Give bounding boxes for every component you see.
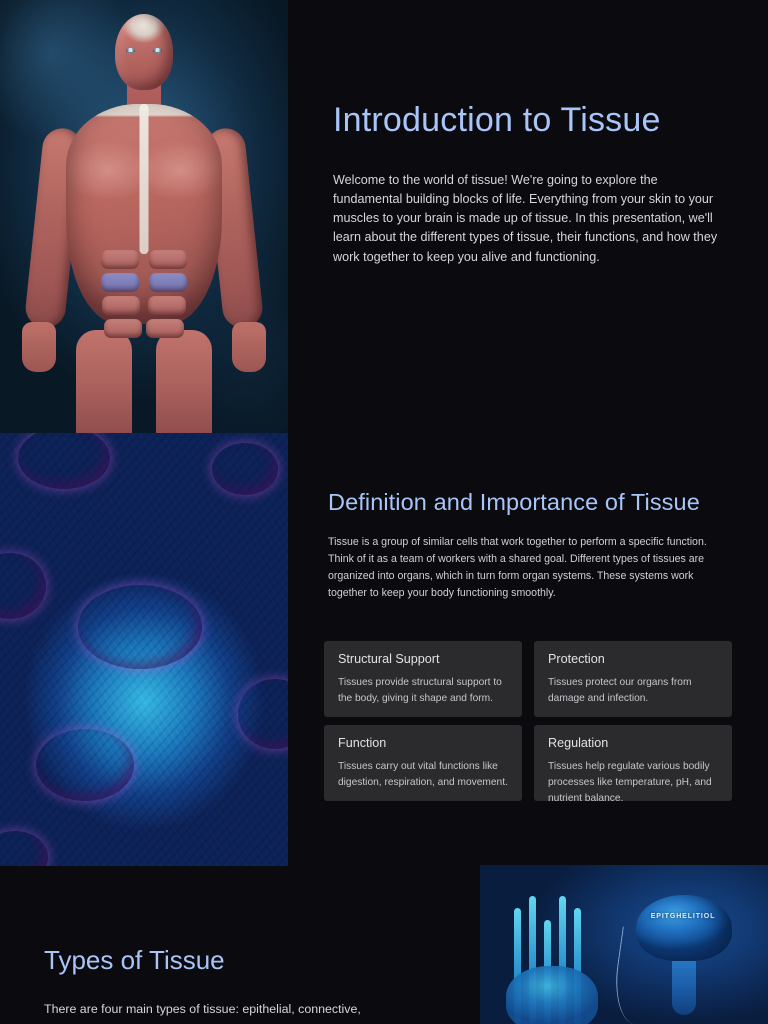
epithelial-cell-dome xyxy=(636,895,732,961)
cell-nucleus xyxy=(36,729,134,801)
intro-body-text: Welcome to the world of tissue! We're go… xyxy=(333,171,725,267)
card-body: Tissues help regulate various bodily pro… xyxy=(548,759,718,807)
types-text-column: Types of Tissue There are four main type… xyxy=(44,944,474,1018)
figure-sternum xyxy=(140,104,149,254)
card-title: Structural Support xyxy=(338,652,508,666)
definition-cells-image xyxy=(0,433,288,866)
epithelial-vessel-structure xyxy=(504,887,604,1024)
card-title: Regulation xyxy=(548,736,718,750)
card-function[interactable]: Function Tissues carry out vital functio… xyxy=(324,725,522,801)
card-body: Tissues carry out vital functions like d… xyxy=(338,759,508,791)
card-structural-support[interactable]: Structural Support Tissues provide struc… xyxy=(324,641,522,717)
figure-left-hand xyxy=(22,322,56,372)
intro-title: Introduction to Tissue xyxy=(333,96,733,145)
figure-left-leg xyxy=(76,330,132,433)
definition-text-column: Definition and Importance of Tissue Tiss… xyxy=(328,487,728,603)
types-epithelial-image: EPITGHELITIOL xyxy=(480,865,768,1024)
card-body: Tissues protect our organs from damage a… xyxy=(548,675,718,707)
card-body: Tissues provide structural support to th… xyxy=(338,675,508,707)
card-protection[interactable]: Protection Tissues protect our organs fr… xyxy=(534,641,732,717)
types-body-text: There are four main types of tissue: epi… xyxy=(44,1000,474,1019)
definition-body-text: Tissue is a group of similar cells that … xyxy=(328,534,728,603)
presentation-page: EPITGHELITIOL Introduction to Tissue Wel… xyxy=(0,0,768,1024)
types-title: Types of Tissue xyxy=(44,944,474,978)
definition-cards-grid: Structural Support Tissues provide struc… xyxy=(324,641,768,801)
anatomy-figure-illustration xyxy=(0,0,288,433)
figure-right-hand xyxy=(232,322,266,372)
card-title: Protection xyxy=(548,652,718,666)
definition-title: Definition and Importance of Tissue xyxy=(328,487,728,519)
intro-anatomy-image xyxy=(0,0,288,433)
epithelial-cell-stem xyxy=(672,953,696,1015)
card-regulation[interactable]: Regulation Tissues help regulate various… xyxy=(534,725,732,801)
epithelial-vessel-base xyxy=(506,966,598,1024)
figure-right-leg xyxy=(156,330,212,433)
epithelial-image-label: EPITGHELITIOL xyxy=(638,913,728,920)
card-title: Function xyxy=(338,736,508,750)
cell-nucleus xyxy=(212,443,278,495)
figure-head xyxy=(115,14,173,90)
figure-abdominal-muscles xyxy=(98,250,190,342)
cell-nucleus xyxy=(78,585,202,669)
intro-text-column: Introduction to Tissue Welcome to the wo… xyxy=(333,96,733,267)
